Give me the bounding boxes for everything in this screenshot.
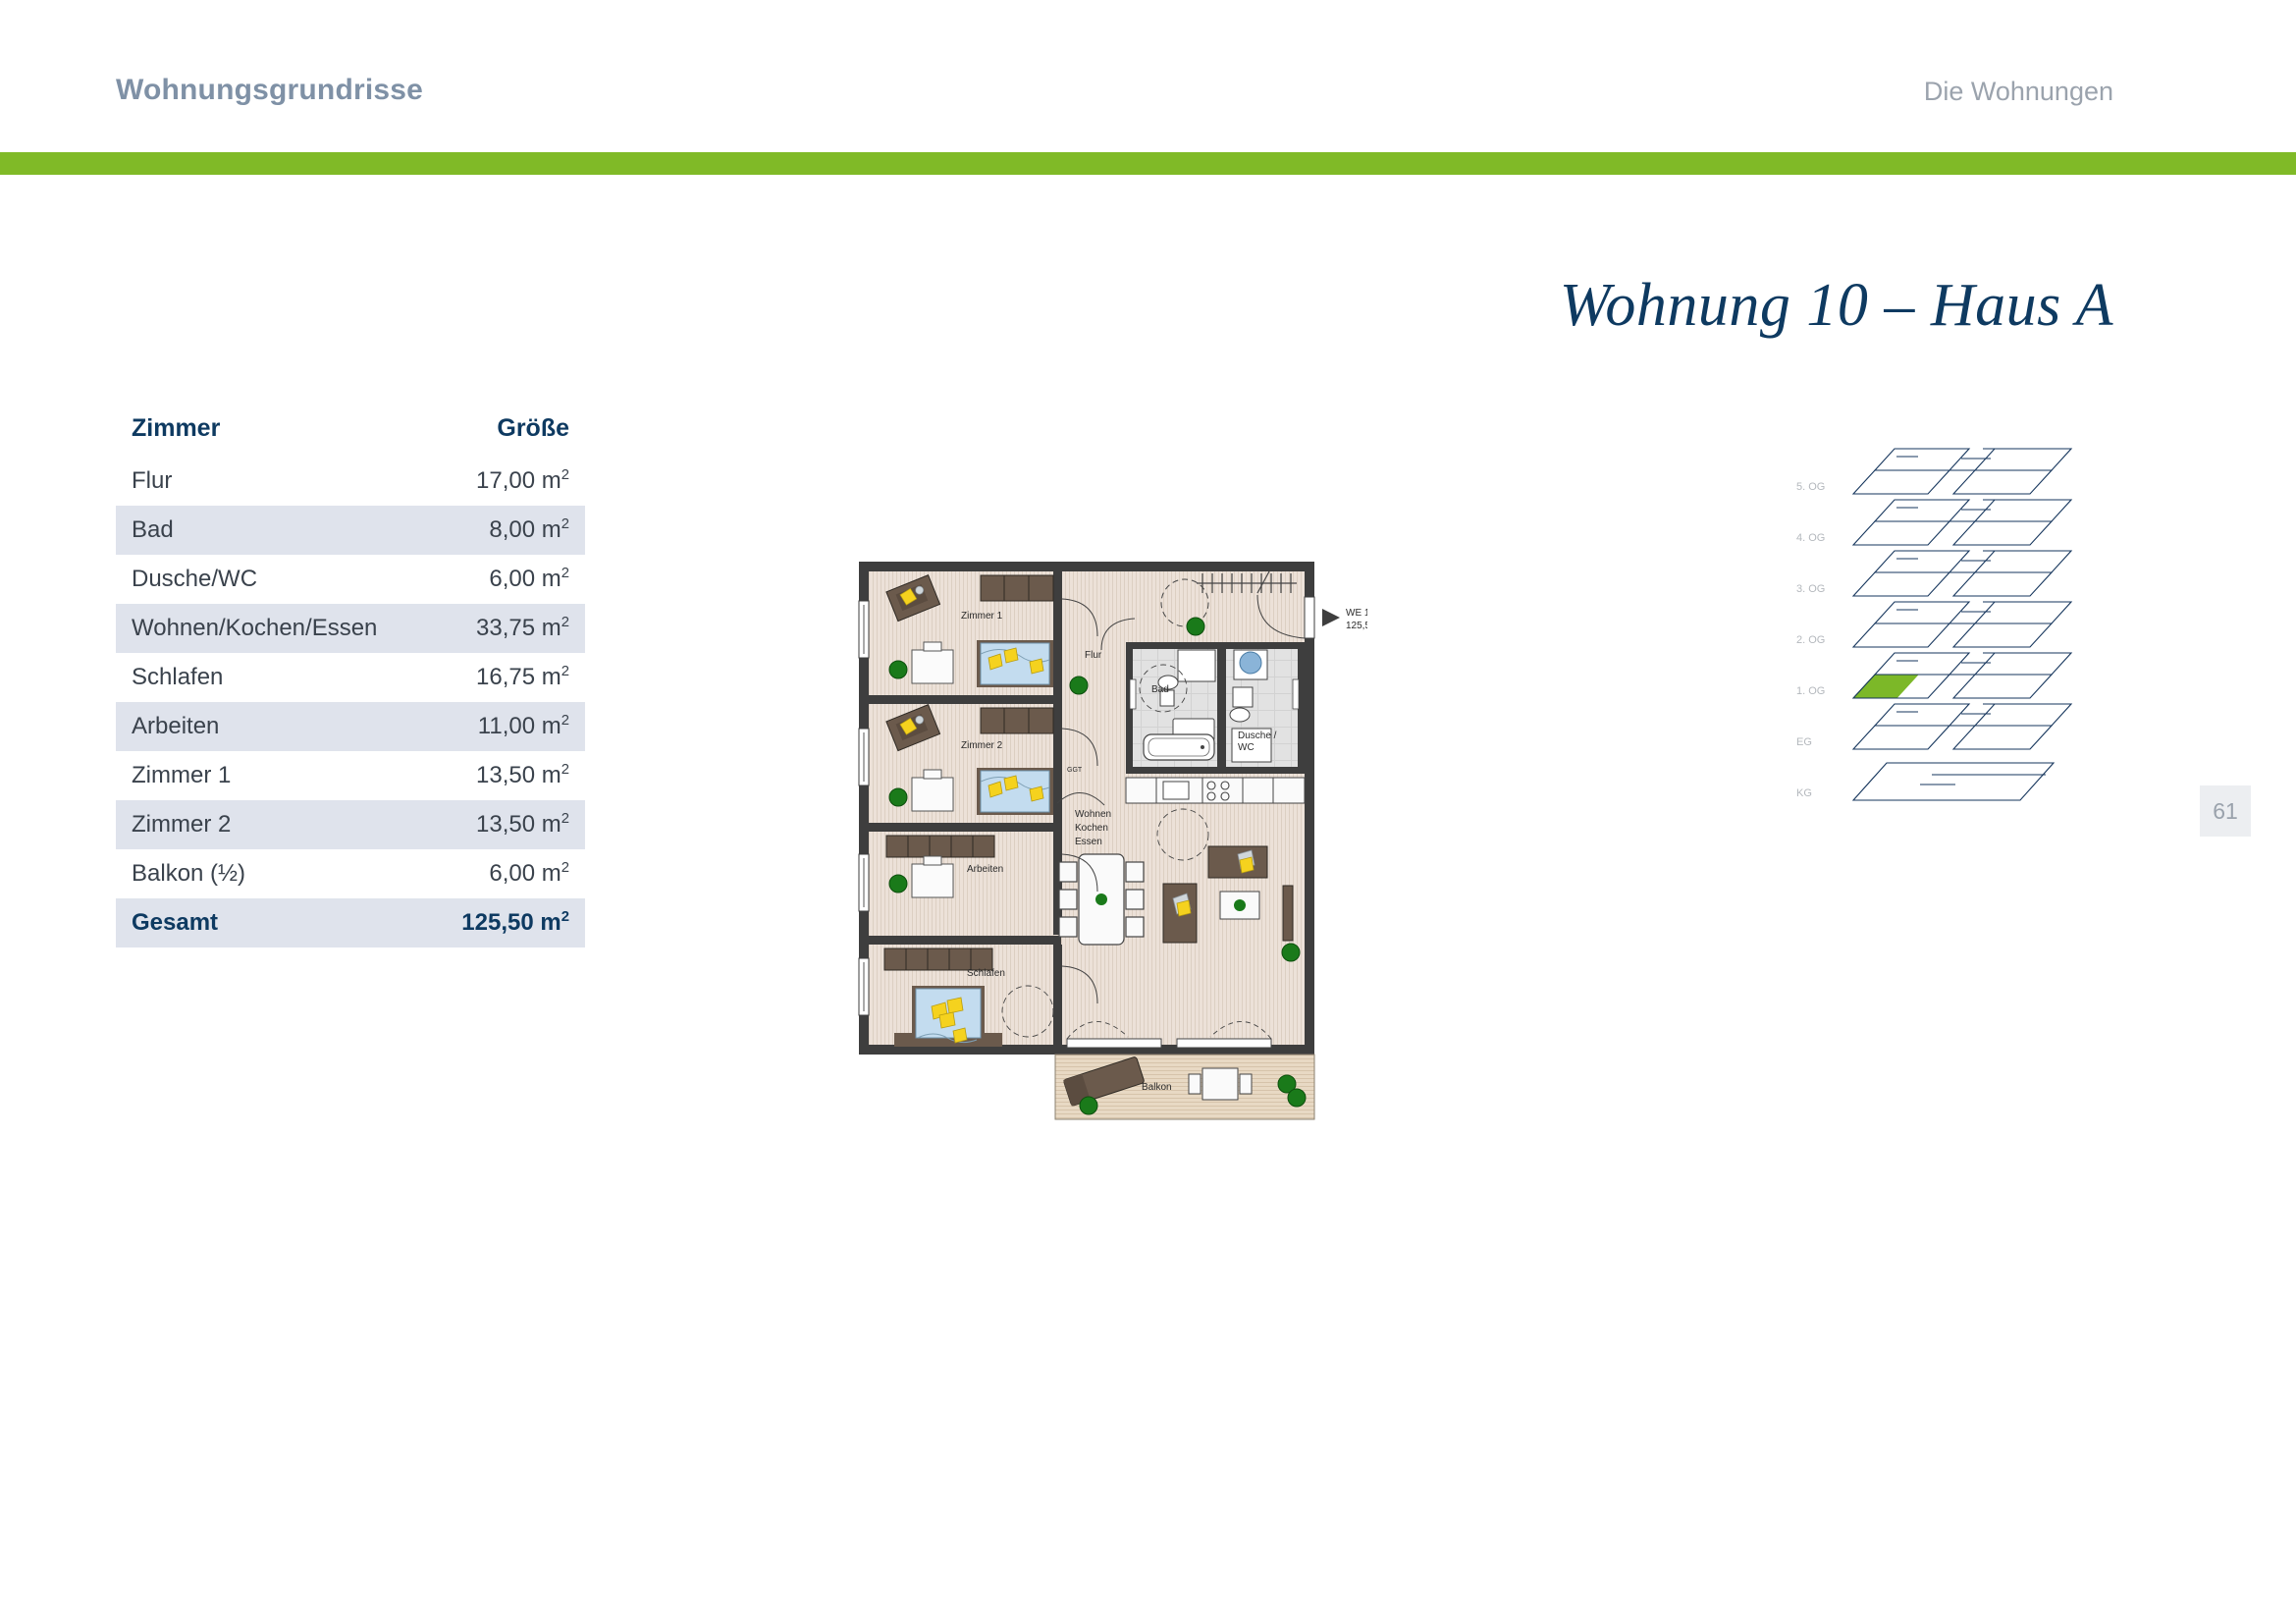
level-label: 1. OG [1796,685,1825,697]
level-label: EG [1796,736,1812,748]
floorplan-label-dusche-wc-2: WC [1238,742,1255,753]
room-area-table: Zimmer Größe Flur17,00 m2Bad8,00 m2Dusch… [116,410,585,947]
page-number-badge: 61 [2200,785,2251,837]
floorplan-unit-label-line1: WE 10 [1346,608,1367,619]
level-label: 3. OG [1796,583,1825,595]
table-body: Flur17,00 m2Bad8,00 m2Dusche/WC6,00 m2Wo… [116,457,585,898]
level-row[interactable]: KG [1796,763,2054,800]
table-row: Schlafen16,75 m2 [116,653,585,702]
table-row: Arbeiten11,00 m2 [116,702,585,751]
floorplan-unit-label-line2: 125,50 m² [1346,621,1367,631]
table-cell-size: 17,00 m2 [476,467,569,495]
level-row[interactable]: 3. OG [1796,551,2071,596]
table-header-room: Zimmer [132,414,220,443]
table-cell-size: 13,50 m2 [476,811,569,839]
table-cell-size: 11,00 m2 [478,713,569,740]
table-row: Zimmer 213,50 m2 [116,800,585,849]
page-title: Wohnung 10 – Haus A [1560,271,2113,341]
table-cell-size: 16,75 m2 [476,664,569,691]
floorplan-label-schlafen: Schlafen [967,968,1005,979]
level-row[interactable]: 5. OG [1796,449,2071,494]
floorplan: Zimmer 1 Zimmer 2 Flur Bad Dusche / WC W… [857,560,1367,1122]
table-cell-room: Zimmer 2 [132,811,231,839]
entrance-arrow-icon [1322,609,1340,626]
level-row[interactable]: 2. OG [1796,602,2071,647]
table-cell-room: Bad [132,516,174,544]
level-label: 5. OG [1796,481,1825,493]
table-cell-room: Balkon (½) [132,860,245,888]
table-row: Flur17,00 m2 [116,457,585,506]
building-level-stack: 5. OG4. OG3. OG2. OG1. OGEGKG [1794,447,2109,898]
header-accent-bar [0,152,2296,175]
table-cell-room: Flur [132,467,172,495]
table-row: Zimmer 113,50 m2 [116,751,585,800]
floorplan-label-ggt: GGT [1067,767,1083,774]
table-cell-room: Zimmer 1 [132,762,231,789]
page-header-left-title: Wohnungsgrundrisse [116,74,423,107]
table-cell-size: 8,00 m2 [489,516,569,544]
table-row: Balkon (½)6,00 m2 [116,849,585,898]
page-header-right-title: Die Wohnungen [1924,77,2113,107]
floorplan-label-flur: Flur [1085,650,1102,661]
table-cell-room: Schlafen [132,664,223,691]
table-header-size: Größe [497,414,569,443]
level-label: 4. OG [1796,532,1825,544]
table-cell-room: Dusche/WC [132,566,257,593]
table-row: Dusche/WC6,00 m2 [116,555,585,604]
floorplan-label-essen: Essen [1075,837,1102,847]
table-cell-size: 6,00 m2 [489,566,569,593]
table-cell-size: 13,50 m2 [476,762,569,789]
table-row: Bad8,00 m2 [116,506,585,555]
floorplan-label-arbeiten: Arbeiten [967,864,1003,875]
floorplan-label-balkon: Balkon [1142,1082,1172,1093]
floorplan-label-zimmer-1: Zimmer 1 [961,611,1003,622]
table-header-row: Zimmer Größe [116,410,585,457]
table-cell-size: 33,75 m2 [476,615,569,642]
table-total-row: Gesamt 125,50 m2 [116,898,585,947]
table-total-size: 125,50 m2 [461,909,569,937]
level-row[interactable]: 4. OG [1796,500,2071,545]
floorplan-label-dusche-wc: Dusche / [1238,731,1277,741]
floorplan-label-wohnen: Wohnen [1075,809,1111,820]
table-row: Wohnen/Kochen/Essen33,75 m2 [116,604,585,653]
level-label: 2. OG [1796,634,1825,646]
level-label: KG [1796,787,1812,799]
floorplan-label-bad: Bad [1151,684,1169,695]
level-row[interactable]: 1. OG [1796,653,2071,698]
floorplan-label-zimmer-2: Zimmer 2 [961,740,1003,751]
floorplan-label-kochen: Kochen [1075,823,1108,834]
table-cell-size: 6,00 m2 [489,860,569,888]
table-cell-room: Wohnen/Kochen/Essen [132,615,377,642]
level-row[interactable]: EG [1796,704,2071,749]
table-total-label: Gesamt [132,909,218,937]
table-cell-room: Arbeiten [132,713,219,740]
